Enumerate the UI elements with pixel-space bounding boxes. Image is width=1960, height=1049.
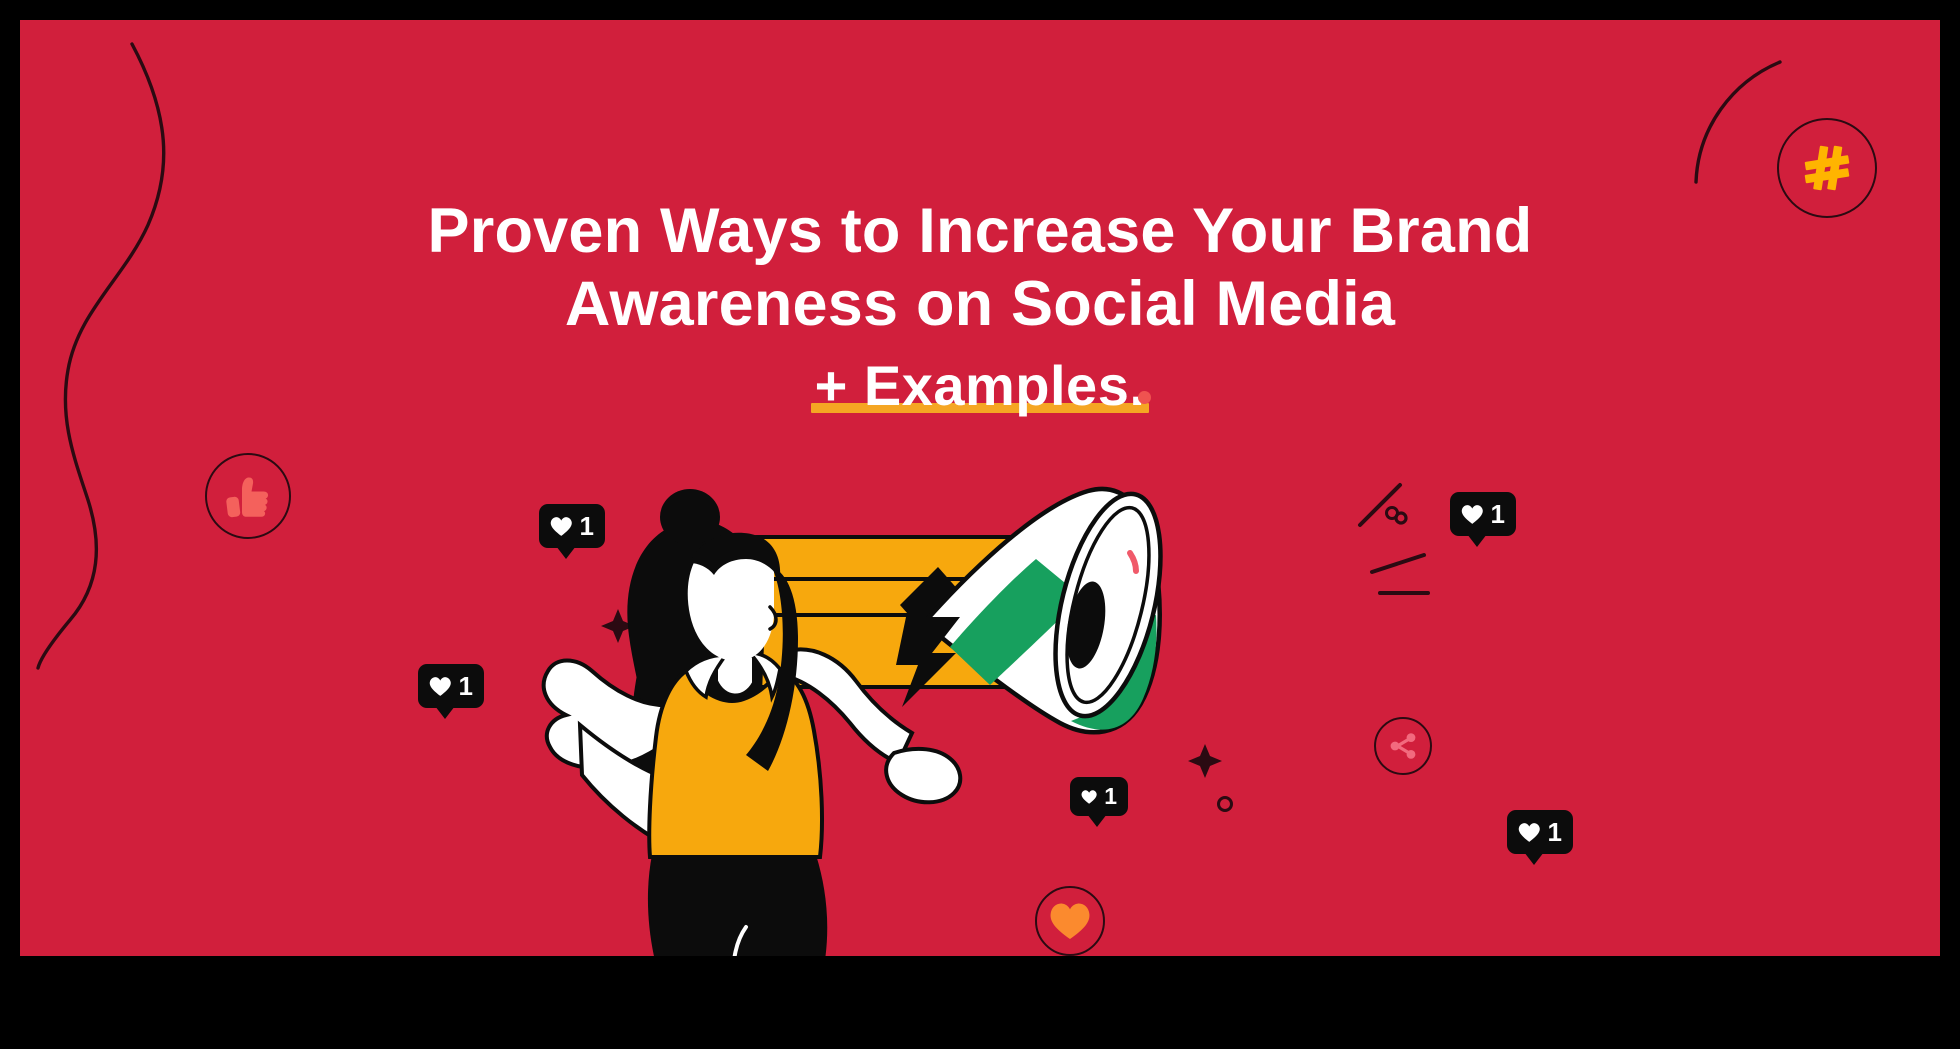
like-count: 1 xyxy=(1548,819,1562,845)
like-bubble: 1 xyxy=(1450,492,1516,536)
title-line-2: Awareness on Social Media xyxy=(20,268,1940,341)
like-bubble: 1 xyxy=(418,664,484,708)
subtitle-group: + Examples. xyxy=(811,353,1150,418)
woman-with-megaphone-illustration xyxy=(520,475,1440,956)
bubble-tail xyxy=(435,706,455,719)
thumbs-up-icon xyxy=(220,468,276,524)
illustration-svg xyxy=(520,475,1440,956)
like-bubble: 1 xyxy=(1507,810,1573,854)
slide-frame: Proven Ways to Increase Your Brand Aware… xyxy=(0,0,1960,1049)
thumbs-up-badge xyxy=(205,453,291,539)
hashtag-icon xyxy=(1799,140,1855,196)
like-count: 1 xyxy=(459,673,473,699)
bubble-tail xyxy=(1524,852,1544,865)
slide-canvas: Proven Ways to Increase Your Brand Aware… xyxy=(20,20,1940,956)
heart-icon xyxy=(1461,504,1484,525)
title-line-1: Proven Ways to Increase Your Brand xyxy=(20,195,1940,268)
subtitle-text: + Examples. xyxy=(815,353,1146,418)
hashtag-badge xyxy=(1777,118,1877,218)
bubble-tail xyxy=(1467,534,1487,547)
subtitle-accent-dot xyxy=(1138,391,1151,404)
page-title: Proven Ways to Increase Your Brand Aware… xyxy=(20,195,1940,418)
like-count: 1 xyxy=(1491,501,1505,527)
megaphone xyxy=(900,483,1180,732)
arc-line-decoration xyxy=(1696,62,1780,182)
heart-icon xyxy=(429,676,452,697)
heart-icon xyxy=(1518,822,1541,843)
